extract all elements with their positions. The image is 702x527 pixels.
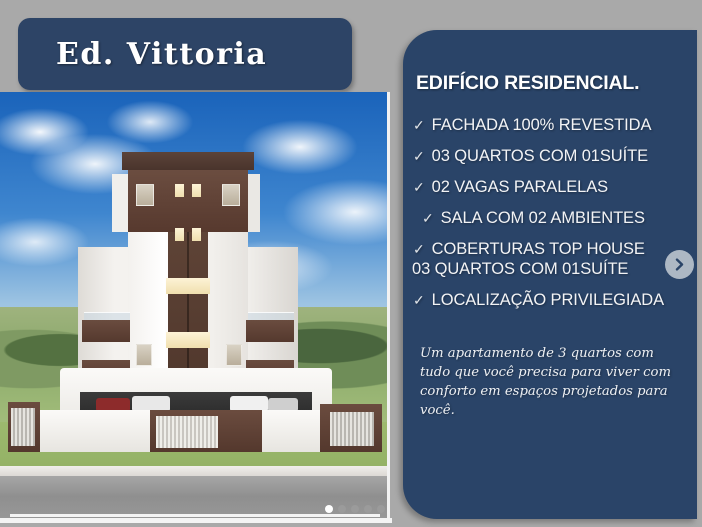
- check-icon: ✓: [413, 117, 425, 133]
- main-gate-grill: [156, 416, 218, 448]
- window-lit: [192, 228, 201, 241]
- carousel-dot-1[interactable]: [325, 505, 333, 513]
- carousel-dot-5[interactable]: [377, 505, 385, 513]
- pedestrian-gate-left-grill: [11, 408, 35, 446]
- chevron-right-icon: [673, 258, 686, 271]
- carousel-dot-2[interactable]: [338, 505, 346, 513]
- feature-list: ✓FACHADA 100% REVESTIDA ✓03 QUARTOS COM …: [413, 116, 697, 322]
- feature-item: ✓03 QUARTOS COM 01SUÍTE: [413, 147, 697, 166]
- feature-item: ✓SALA COM 02 AMBIENTES: [413, 209, 697, 228]
- window-lit: [192, 184, 201, 197]
- feature-item: ✓02 VAGAS PARALELAS: [413, 178, 697, 197]
- title-banner: Ed. Vittoria: [18, 18, 352, 90]
- feature-item: ✓LOCALIZAÇÃO PRIVILEGIADA: [413, 291, 697, 310]
- check-icon: ✓: [422, 210, 434, 226]
- window: [136, 184, 154, 206]
- building-photo-carousel[interactable]: [0, 92, 390, 522]
- photo-bottom-border: [0, 518, 392, 523]
- carousel-dot-4[interactable]: [364, 505, 372, 513]
- feature-text: 03 QUARTOS COM 01SUÍTE: [432, 147, 648, 165]
- check-icon: ✓: [413, 241, 425, 257]
- feature-text: LOCALIZAÇÃO PRIVILEGIADA: [432, 291, 664, 309]
- feature-text: COBERTURAS TOP HOUSE: [432, 240, 645, 258]
- balcony: [82, 320, 130, 342]
- feature-text: 02 VAGAS PARALELAS: [432, 178, 608, 196]
- building-title: Ed. Vittoria: [56, 37, 267, 72]
- feature-text: SALA COM 02 AMBIENTES: [441, 209, 645, 227]
- feature-item: ✓COBERTURAS TOP HOUSE 03 QUARTOS COM 01S…: [413, 240, 697, 279]
- info-panel: EDIFÍCIO RESIDENCIAL. ✓FACHADA 100% REVE…: [403, 30, 697, 519]
- balcony: [246, 320, 294, 342]
- check-icon: ✓: [413, 148, 425, 164]
- window: [226, 344, 242, 366]
- description-paragraph: Um apartamento de 3 quartos com tudo que…: [420, 344, 688, 421]
- roof-slab: [122, 152, 254, 170]
- carousel-dot-3[interactable]: [351, 505, 359, 513]
- check-icon: ✓: [413, 292, 425, 308]
- feature-item: ✓FACHADA 100% REVESTIDA: [413, 116, 697, 135]
- window: [222, 184, 240, 206]
- feature-text-continuation: 03 QUARTOS COM 01SUÍTE: [412, 260, 697, 279]
- info-heading: EDIFÍCIO RESIDENCIAL.: [416, 72, 639, 95]
- window: [136, 344, 152, 366]
- carousel-next-button[interactable]: [665, 250, 694, 279]
- window-lit: [166, 332, 210, 348]
- window-lit: [175, 184, 184, 197]
- feature-text: FACHADA 100% REVESTIDA: [432, 116, 652, 134]
- check-icon: ✓: [413, 179, 425, 195]
- window-lit: [166, 278, 210, 294]
- gate-right-grill: [330, 412, 374, 446]
- window-lit: [175, 228, 184, 241]
- advertisement-slide: Ed. Vittoria: [0, 0, 702, 527]
- carousel-pagination[interactable]: [320, 500, 390, 518]
